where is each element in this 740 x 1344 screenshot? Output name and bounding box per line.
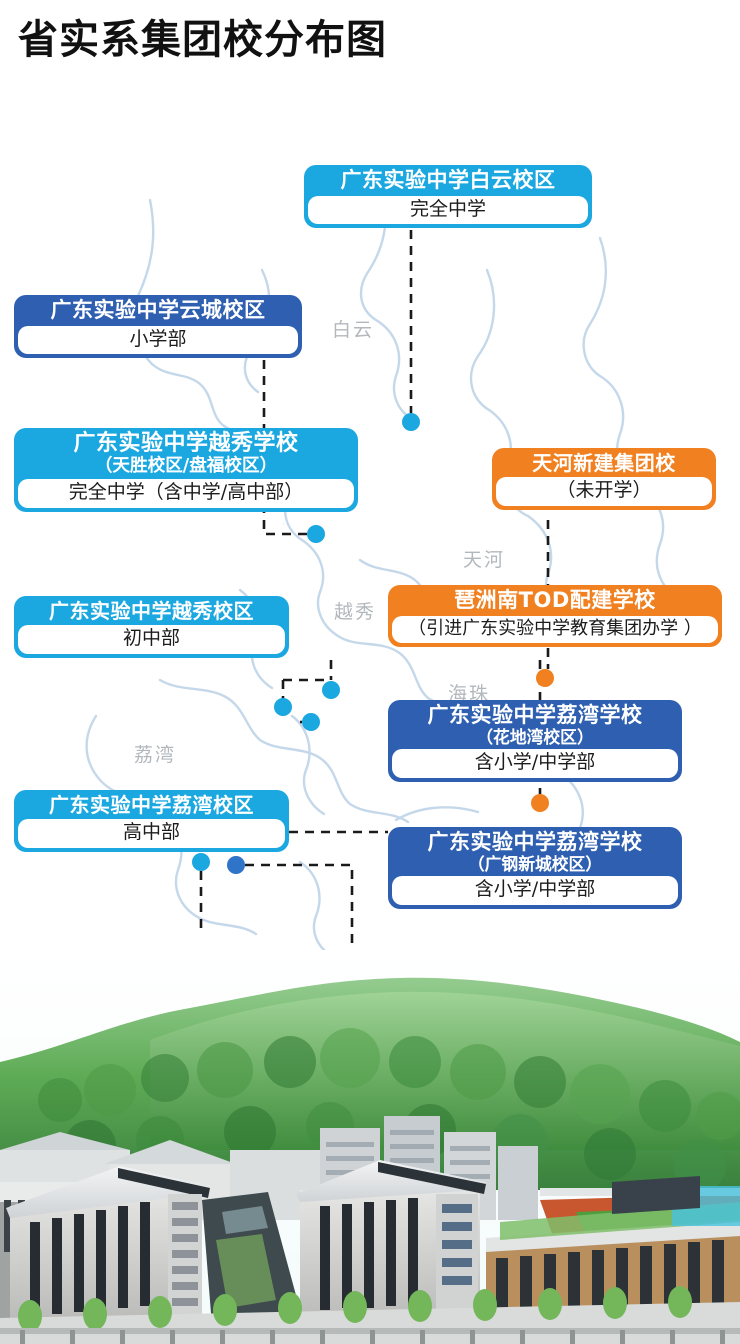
page-title: 省实系集团校分布图: [18, 18, 387, 62]
callout-yuexiu-campus-body: 初中部: [18, 625, 285, 654]
map-marker-yuncheng[interactable]: [307, 525, 325, 543]
callout-liwan-huadiwan[interactable]: 广东实验中学荔湾学校 （花地湾校区） 含小学/中学部: [388, 700, 682, 782]
district-label-liwan: 荔湾: [134, 740, 176, 767]
callout-liwan-campus[interactable]: 广东实验中学荔湾校区 高中部: [14, 790, 289, 852]
callout-liwan-guangang-subtitle: （广钢新城校区）: [394, 855, 676, 874]
callout-yuexiu-school[interactable]: 广东实验中学越秀学校 （天胜校区/盘福校区） 完全中学（含中学/高中部）: [14, 428, 358, 512]
callout-tianhe-new-title: 天河新建集团校: [492, 448, 716, 477]
map-marker-baiyun[interactable]: [402, 413, 420, 431]
callout-baiyun-body: 完全中学: [308, 196, 588, 225]
map-marker-yuexiu-b[interactable]: [274, 698, 292, 716]
map-marker-haizhu[interactable]: [531, 794, 549, 812]
map-marker-liwan-c[interactable]: [227, 856, 245, 874]
callout-liwan-huadiwan-body: 含小学/中学部: [392, 749, 678, 778]
callout-yuexiu-school-title: 广东实验中学越秀学校 （天胜校区/盘福校区）: [14, 428, 358, 479]
callout-pazhou-tod-body: （引进广东实验中学教育集团办学 ）: [392, 616, 718, 644]
callout-liwan-guangang-body: 含小学/中学部: [392, 876, 678, 905]
callout-yuexiu-school-body: 完全中学（含中学/高中部）: [18, 479, 354, 508]
map-marker-yuexiu-a[interactable]: [322, 681, 340, 699]
callout-yuexiu-campus[interactable]: 广东实验中学越秀校区 初中部: [14, 596, 289, 658]
callout-yuncheng-title: 广东实验中学云城校区: [14, 295, 302, 326]
callout-yuncheng-body: 小学部: [18, 326, 298, 355]
callout-liwan-campus-body: 高中部: [18, 819, 285, 848]
callout-tianhe-new[interactable]: 天河新建集团校 （未开学）: [492, 448, 716, 510]
callout-liwan-huadiwan-title: 广东实验中学荔湾学校 （花地湾校区）: [388, 700, 682, 749]
callout-yuncheng[interactable]: 广东实验中学云城校区 小学部: [14, 295, 302, 358]
district-label-tianhe: 天河: [463, 545, 505, 572]
callout-liwan-huadiwan-subtitle: （花地湾校区）: [394, 728, 676, 747]
campus-photo-graphic: [0, 950, 740, 1344]
callout-pazhou-tod-title: 琶洲南TOD配建学校: [388, 585, 722, 616]
callout-baiyun-title: 广东实验中学白云校区: [304, 165, 592, 196]
map-marker-yuexiu-c[interactable]: [302, 713, 320, 731]
callout-yuexiu-campus-title: 广东实验中学越秀校区: [14, 596, 289, 625]
callout-pazhou-tod[interactable]: 琶洲南TOD配建学校 （引进广东实验中学教育集团办学 ）: [388, 585, 722, 647]
callout-liwan-guangang[interactable]: 广东实验中学荔湾学校 （广钢新城校区） 含小学/中学部: [388, 827, 682, 909]
callout-yuexiu-school-subtitle: （天胜校区/盘福校区）: [20, 457, 352, 477]
district-label-baiyun: 白云: [332, 315, 374, 342]
callout-liwan-guangang-title: 广东实验中学荔湾学校 （广钢新城校区）: [388, 827, 682, 876]
callout-baiyun[interactable]: 广东实验中学白云校区 完全中学: [304, 165, 592, 228]
map-marker-tianhe[interactable]: [536, 669, 554, 687]
district-label-yuexiu: 越秀: [334, 597, 376, 624]
callout-liwan-campus-title: 广东实验中学荔湾校区: [14, 790, 289, 819]
map-marker-liwan-b[interactable]: [192, 853, 210, 871]
campus-aerial-photo: [0, 950, 740, 1344]
callout-tianhe-new-body: （未开学）: [496, 477, 712, 506]
